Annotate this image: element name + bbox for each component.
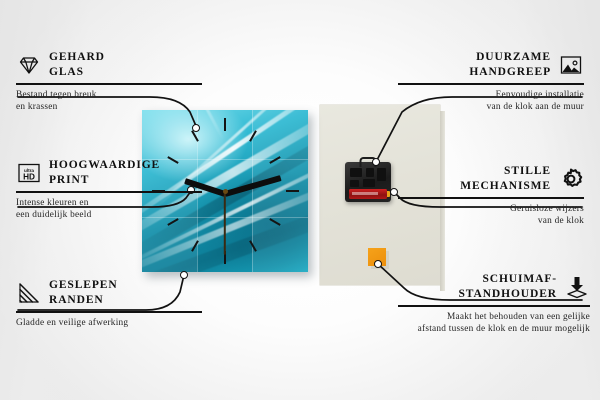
feature-title: STILLE MECHANISME <box>460 164 551 193</box>
divider <box>398 83 584 84</box>
feature-subtitle: Intense kleuren en een duidelijk beeld <box>16 197 202 222</box>
feature-subtitle: Gladde en veilige afwerking <box>16 317 202 329</box>
connector-dot-handgreep <box>372 158 380 166</box>
feature-gehard-glas: GEHARD GLAS Bestand tegen breuk en krass… <box>16 50 202 114</box>
divider <box>16 83 202 84</box>
beveled-edge-icon <box>16 280 42 306</box>
feature-geslepen-randen: GESLEPEN RANDEN Gladde en veilige afwerk… <box>16 278 202 329</box>
gear-icon <box>558 166 584 192</box>
divider <box>16 191 202 192</box>
feature-title: DUURZAME HANDGREEP <box>469 50 551 79</box>
spacer-arrow-icon <box>564 274 590 300</box>
feature-schuimafstandhouder: SCHUIMAF- STANDHOUDER Maakt het behouden… <box>398 272 590 336</box>
connector-dot-mechanisme <box>390 188 398 196</box>
diamond-icon <box>16 52 42 78</box>
feature-duurzame-handgreep: DUURZAME HANDGREEP Eenvoudige installati… <box>398 50 584 114</box>
feature-subtitle: Maakt het behouden van een gelijke afsta… <box>398 311 590 336</box>
feature-stille-mechanisme: STILLE MECHANISME Geruisloze wijzers van… <box>398 164 584 228</box>
clock-center-pin <box>223 189 228 194</box>
feature-subtitle: Eenvoudige installatie van de klok aan d… <box>398 89 584 114</box>
svg-text:HD: HD <box>23 172 35 181</box>
product-infographic: GEHARD GLAS Bestand tegen breuk en krass… <box>0 0 600 400</box>
feature-subtitle: Geruisloze wijzers van de klok <box>398 203 584 228</box>
feature-title: GESLEPEN RANDEN <box>49 278 118 307</box>
feature-title: SCHUIMAF- STANDHOUDER <box>458 272 557 301</box>
divider <box>398 197 584 198</box>
divider <box>16 311 202 312</box>
divider <box>398 305 590 306</box>
connector-dot-houder <box>374 260 382 268</box>
connector-dot-gehard-glas <box>192 124 200 132</box>
feature-subtitle: Bestand tegen breuk en krassen <box>16 89 202 114</box>
ultra-hd-icon: ultra HD <box>16 160 42 186</box>
feature-hoogwaardige-print: ultra HD HOOGWAARDIGE PRINT Intense kleu… <box>16 158 202 222</box>
picture-frame-icon <box>558 52 584 78</box>
feature-title: GEHARD GLAS <box>49 50 105 79</box>
feature-title: HOOGWAARDIGE PRINT <box>49 158 160 187</box>
